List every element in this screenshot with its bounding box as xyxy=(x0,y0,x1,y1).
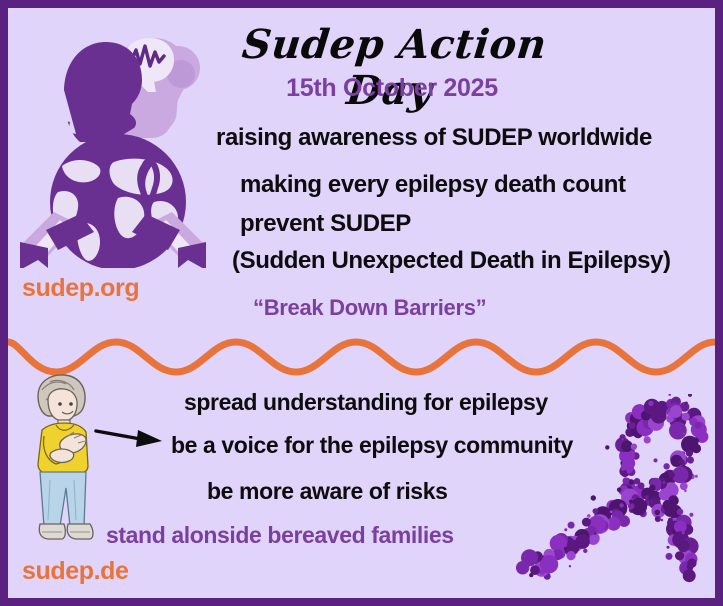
woman-profile-globe-icon xyxy=(18,16,208,268)
person-clapping-icon xyxy=(16,370,112,550)
campaign-slogan: “Break Down Barriers” xyxy=(253,295,486,321)
bottom-message-line-3: be more aware of risks xyxy=(207,478,447,505)
link-sudep-de[interactable]: sudep.de xyxy=(22,557,129,586)
bottom-message-line-2: be a voice for the epilepsy community xyxy=(171,432,573,459)
awareness-ribbon-icon xyxy=(516,394,715,598)
wave-divider-icon xyxy=(8,330,715,384)
link-sudep-org[interactable]: sudep.org xyxy=(22,274,139,303)
right-arrow-icon xyxy=(94,420,170,456)
poster-date: 15th October 2025 xyxy=(232,74,552,103)
poster-canvas: Sudep Action Day 15th October 2025 raisi… xyxy=(8,8,715,598)
bottom-message-line-1: spread understanding for epilepsy xyxy=(184,389,548,416)
message-line-3: prevent SUDEP xyxy=(240,210,411,238)
message-line-2: making every epilepsy death count xyxy=(240,171,626,199)
message-line-1: raising awareness of SUDEP worldwide xyxy=(216,124,652,152)
poster-frame: Sudep Action Day 15th October 2025 raisi… xyxy=(0,0,723,606)
bottom-highlight-message: stand alonside bereaved families xyxy=(106,522,454,549)
message-line-4: (Sudden Unexpected Death in Epilepsy) xyxy=(232,247,671,275)
